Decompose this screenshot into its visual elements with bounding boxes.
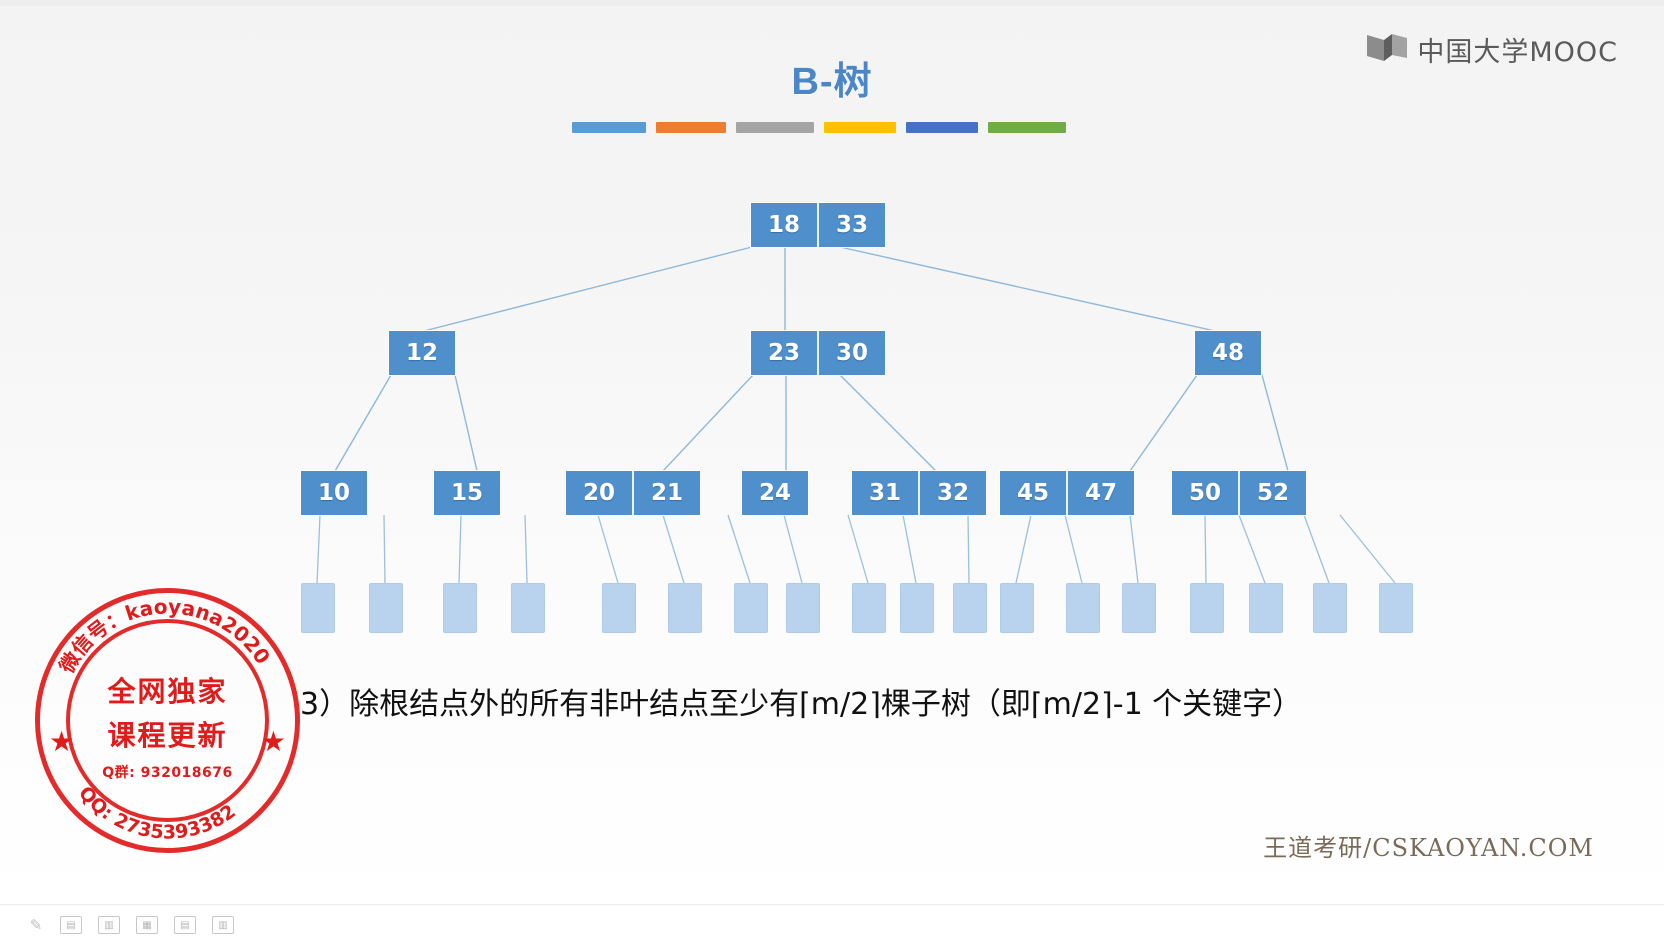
tree-key-cell[interactable]: 10 xyxy=(301,471,367,515)
tree-leaf-box[interactable] xyxy=(953,583,987,633)
tree-leaf-box[interactable] xyxy=(1190,583,1224,633)
tree-key-cell[interactable]: 18 xyxy=(751,203,819,247)
tree-leaf-box[interactable] xyxy=(786,583,820,633)
tree-leaf-box[interactable] xyxy=(1313,583,1347,633)
tree-key-cell[interactable]: 20 xyxy=(566,471,634,515)
tree-key-cell[interactable]: 21 xyxy=(634,471,700,515)
tree-node-12[interactable]: 12 xyxy=(389,331,455,375)
tree-key-cell[interactable]: 31 xyxy=(852,471,920,515)
tree-node-48[interactable]: 48 xyxy=(1195,331,1261,375)
tree-leaf-box[interactable] xyxy=(1249,583,1283,633)
footer-brand: 王道考研/CSKAOYAN.COM xyxy=(1263,828,1594,863)
list-icon[interactable]: ▤ xyxy=(174,916,196,934)
slide-canvas: B-树 中国大学MOOC xyxy=(0,0,1664,905)
tree-key-cell[interactable]: 30 xyxy=(819,331,885,375)
tree-key-cell[interactable]: 12 xyxy=(389,331,455,375)
tree-key-cell[interactable]: 50 xyxy=(1172,471,1240,515)
tree-leaf-box[interactable] xyxy=(1122,583,1156,633)
tree-node-24[interactable]: 24 xyxy=(742,471,808,515)
tree-key-cell[interactable]: 52 xyxy=(1240,471,1306,515)
pen-icon[interactable]: ✎ xyxy=(28,917,44,933)
grid-icon[interactable]: ▦ xyxy=(136,916,158,934)
tree-node-10[interactable]: 10 xyxy=(301,471,367,515)
tree-node-45-47[interactable]: 45 47 xyxy=(1000,471,1134,515)
tree-node-23-30[interactable]: 23 30 xyxy=(751,331,885,375)
tree-leaf-box[interactable] xyxy=(1066,583,1100,633)
tree-key-cell[interactable]: 48 xyxy=(1195,331,1261,375)
tree-leaf-box[interactable] xyxy=(602,583,636,633)
tree-key-cell[interactable]: 45 xyxy=(1000,471,1068,515)
tree-leaf-box[interactable] xyxy=(1000,583,1034,633)
tree-node-31-32[interactable]: 31 32 xyxy=(852,471,986,515)
tree-node-root[interactable]: 18 33 xyxy=(751,203,885,247)
tree-key-cell[interactable]: 33 xyxy=(819,203,885,247)
tree-key-cell[interactable]: 24 xyxy=(742,471,808,515)
slide-body-text: 3）除根结点外的所有非叶结点至少有⌈m/2⌉棵子树（即⌈m/2⌉-1 个关键字） xyxy=(300,685,1550,724)
tree-leaf-box[interactable] xyxy=(369,583,403,633)
player-toolbar: ✎ ▤ ▥ ▦ ▤ ▥ xyxy=(0,904,1664,938)
tree-leaf-box[interactable] xyxy=(511,583,545,633)
tree-key-cell[interactable]: 23 xyxy=(751,331,819,375)
image-icon[interactable]: ▤ xyxy=(60,916,82,934)
b-tree-diagram: 18 33 12 23 30 48 10 15 20 21 24 31 xyxy=(0,0,1664,905)
tree-leaf-box[interactable] xyxy=(900,583,934,633)
panel-icon[interactable]: ▥ xyxy=(212,916,234,934)
tree-leaf-box[interactable] xyxy=(301,583,335,633)
tree-node-15[interactable]: 15 xyxy=(434,471,500,515)
tree-leaf-box[interactable] xyxy=(852,583,886,633)
tree-leaf-box[interactable] xyxy=(443,583,477,633)
tree-leaf-box[interactable] xyxy=(734,583,768,633)
note-icon[interactable]: ▥ xyxy=(98,916,120,934)
tree-node-50-52[interactable]: 50 52 xyxy=(1172,471,1306,515)
tree-leaf-box[interactable] xyxy=(668,583,702,633)
toolbar-icon-group: ✎ ▤ ▥ ▦ ▤ ▥ xyxy=(28,916,234,934)
tree-leaf-box[interactable] xyxy=(1379,583,1413,633)
tree-key-cell[interactable]: 47 xyxy=(1068,471,1134,515)
tree-edges xyxy=(0,0,1664,905)
tree-key-cell[interactable]: 32 xyxy=(920,471,986,515)
tree-key-cell[interactable]: 15 xyxy=(434,471,500,515)
tree-node-20-21[interactable]: 20 21 xyxy=(566,471,700,515)
